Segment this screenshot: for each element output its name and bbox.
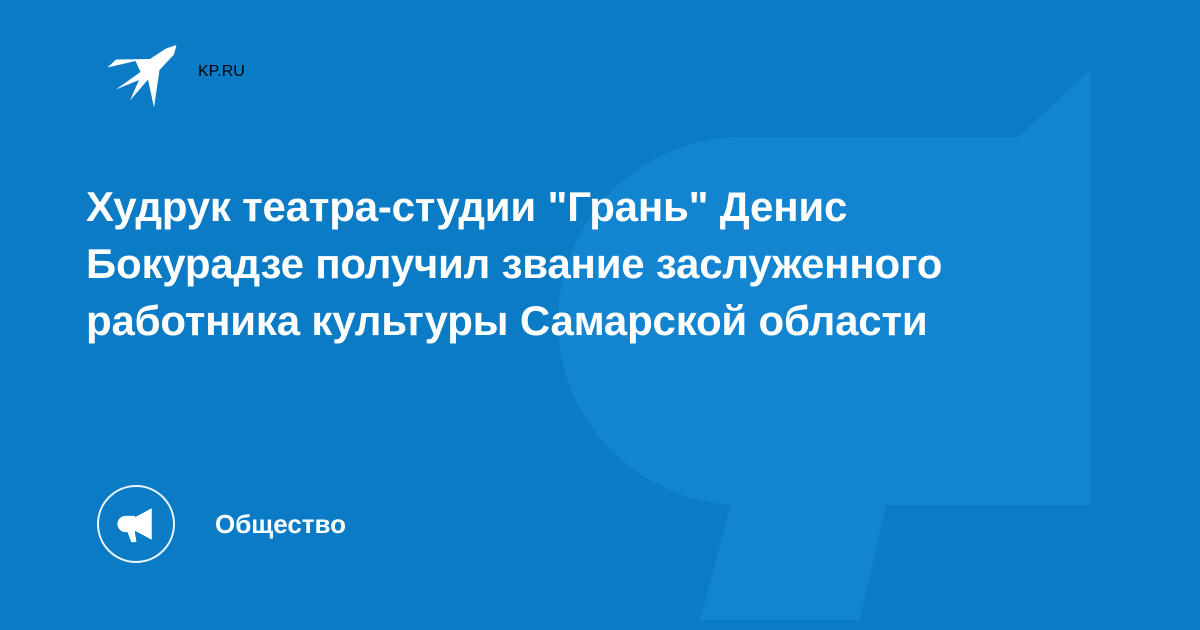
category-badge[interactable]: Общество	[97, 485, 346, 563]
swallow-bird-icon	[104, 36, 180, 108]
megaphone-icon	[115, 503, 157, 545]
page-title: Худрук театра-студии "Грань" Денис Бокур…	[86, 178, 1046, 349]
category-icon-circle	[97, 485, 175, 563]
brand-name: KP.RU	[198, 63, 245, 81]
category-label: Общество	[215, 511, 346, 537]
brand-header[interactable]: KP.RU	[104, 36, 245, 108]
social-share-card: KP.RU Худрук театра-студии "Грань" Денис…	[0, 0, 1200, 630]
